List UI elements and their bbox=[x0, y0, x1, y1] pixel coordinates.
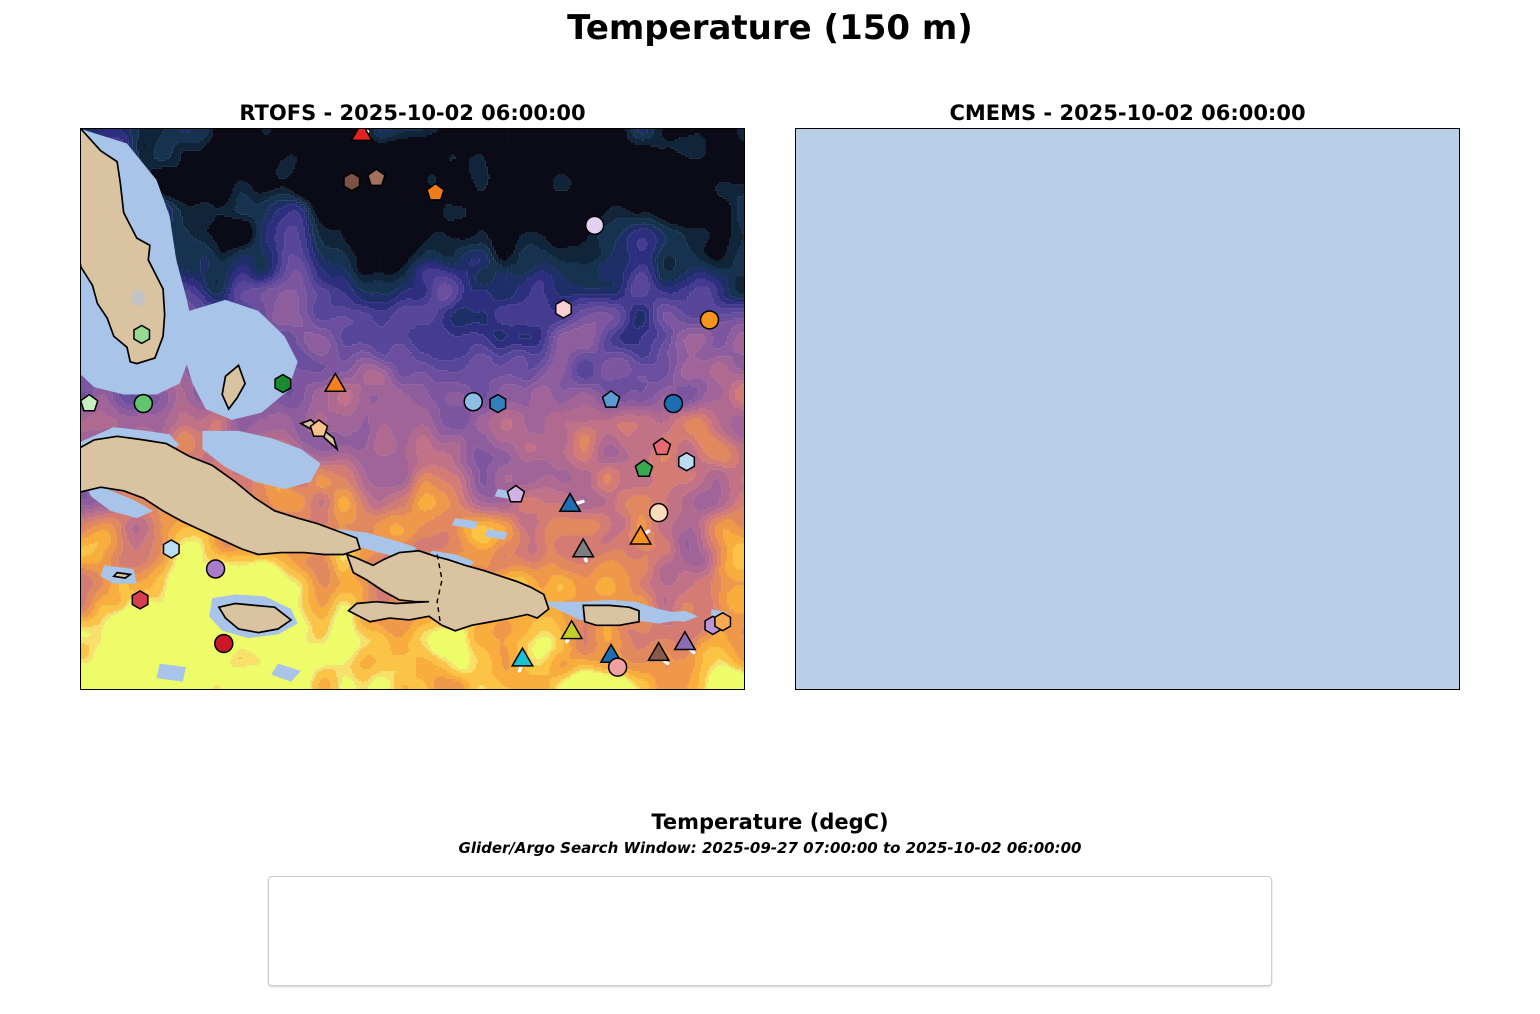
marker-4903354[interactable] bbox=[134, 395, 152, 413]
figure-title: Temperature (150 m) bbox=[0, 8, 1540, 48]
map-panel-cmems[interactable] bbox=[795, 128, 1460, 690]
marker-6903727[interactable] bbox=[586, 216, 604, 234]
marker-1902375[interactable] bbox=[464, 393, 482, 411]
marker-4903333[interactable] bbox=[650, 504, 668, 522]
panel-title-cmems: CMEMS - 2025-10-02 06:00:00 bbox=[795, 101, 1460, 125]
map-panel-rtofs[interactable] bbox=[80, 128, 745, 690]
marker-4902912[interactable] bbox=[701, 311, 719, 329]
marker-4903346[interactable] bbox=[275, 375, 291, 393]
marker-4903244[interactable] bbox=[715, 613, 731, 631]
marker-2903766[interactable] bbox=[679, 453, 695, 471]
marker-4903469[interactable] bbox=[134, 325, 150, 343]
marker-legend[interactable] bbox=[268, 876, 1272, 986]
marker-6901997[interactable] bbox=[207, 560, 225, 578]
marker-4903559[interactable] bbox=[132, 591, 148, 609]
temperature-field bbox=[81, 129, 744, 689]
marker-7902239[interactable] bbox=[344, 173, 360, 191]
colorbar bbox=[105, 752, 1435, 782]
marker-1902362[interactable] bbox=[664, 395, 682, 413]
marker-5906966[interactable] bbox=[556, 300, 572, 318]
marker-4903558[interactable] bbox=[215, 635, 233, 653]
marker-4903904[interactable] bbox=[609, 658, 627, 676]
marker-2903766b[interactable] bbox=[163, 540, 179, 558]
colorbar-title: Temperature (degC) bbox=[0, 810, 1540, 834]
search-window-note: Glider/Argo Search Window: 2025-09-27 07… bbox=[0, 839, 1540, 857]
marker-1902363[interactable] bbox=[490, 395, 506, 413]
panel-title-rtofs: RTOFS - 2025-10-02 06:00:00 bbox=[80, 101, 745, 125]
